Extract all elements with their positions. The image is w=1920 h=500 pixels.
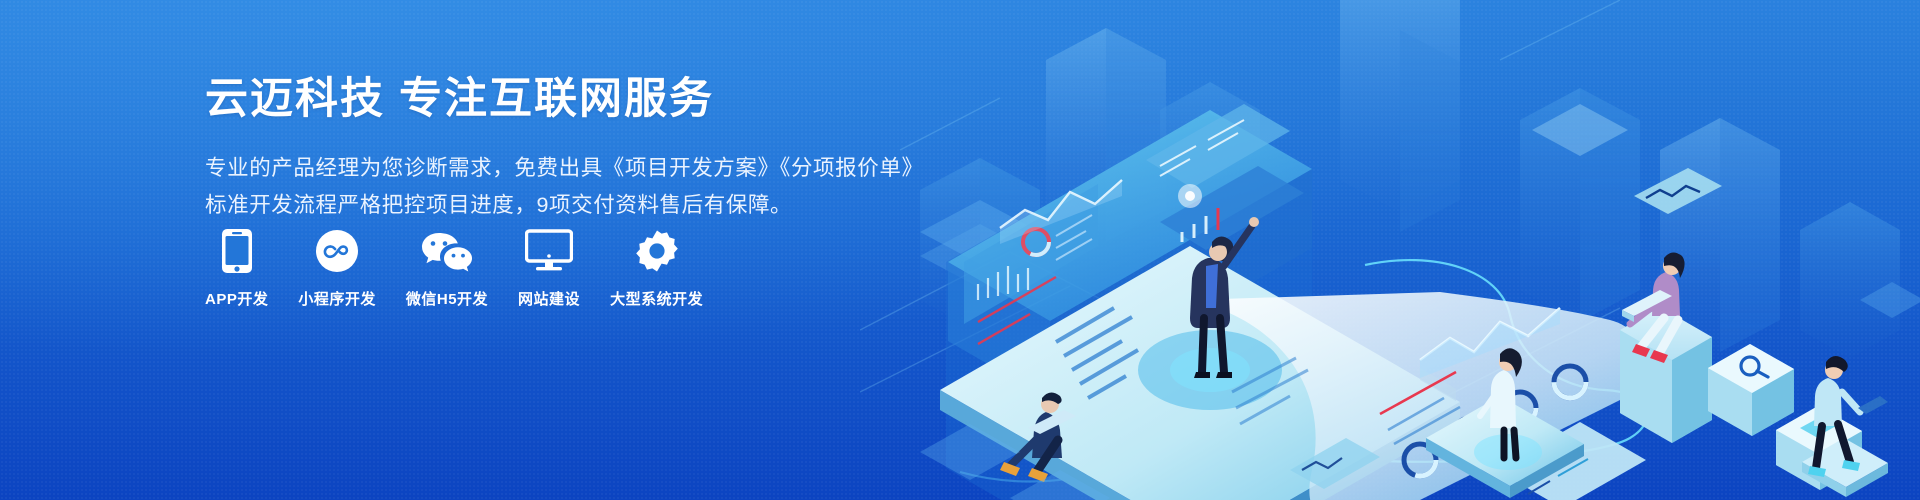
- cube-magnifier: [1708, 344, 1794, 436]
- service-label: 网站建设: [518, 288, 580, 309]
- illustration-isometric-data-platform: [860, 0, 1920, 500]
- gear-icon: [635, 228, 679, 274]
- wechat-icon: [420, 228, 474, 274]
- service-item-wechat-h5[interactable]: 微信H5开发: [406, 228, 488, 309]
- service-item-app[interactable]: APP开发: [205, 228, 268, 309]
- service-label: 小程序开发: [298, 288, 376, 309]
- service-label: 微信H5开发: [406, 288, 488, 309]
- hero-copy: 云迈科技 专注互联网服务 专业的产品经理为您诊断需求，免费出具《项目开发方案》《…: [205, 74, 965, 224]
- mini-program-icon: [315, 228, 359, 274]
- service-label: APP开发: [205, 288, 268, 309]
- page-title: 云迈科技 专注互联网服务: [205, 74, 965, 125]
- hero-subtitle: 专业的产品经理为您诊断需求，免费出具《项目开发方案》《分项报价单》 标准开发流程…: [205, 150, 965, 224]
- subtitle-line-2: 标准开发流程严格把控项目进度，9项交付资料售后有保障。: [205, 187, 965, 224]
- service-label: 大型系统开发: [610, 288, 703, 309]
- service-item-mini-program[interactable]: 小程序开发: [298, 228, 376, 309]
- mobile-phone-icon: [220, 228, 254, 274]
- service-item-website[interactable]: 网站建设: [518, 228, 580, 309]
- service-item-large-system[interactable]: 大型系统开发: [610, 228, 703, 309]
- subtitle-line-1: 专业的产品经理为您诊断需求，免费出具《项目开发方案》《分项报价单》: [205, 150, 965, 187]
- service-list: APP开发 小程序开发: [205, 228, 703, 309]
- monitor-icon: [525, 228, 573, 274]
- hero-banner: 云迈科技 专注互联网服务 专业的产品经理为您诊断需求，免费出具《项目开发方案》《…: [0, 0, 1920, 500]
